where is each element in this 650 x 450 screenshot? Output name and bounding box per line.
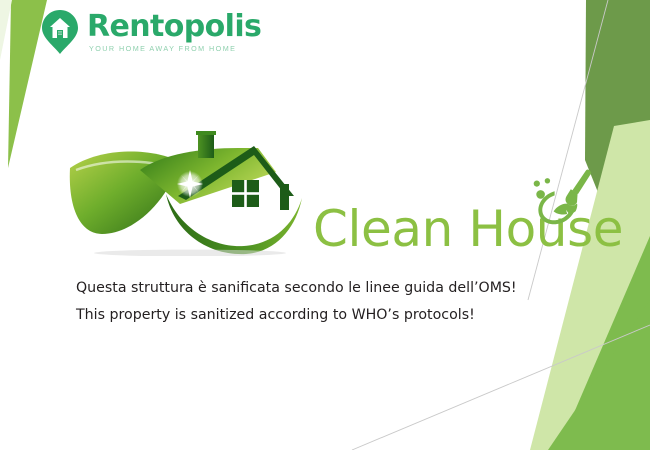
- right-dark-green-wedge: [585, 0, 650, 322]
- bottom-right-green-wedge: [548, 300, 650, 450]
- message-english: This property is sanitized according to …: [76, 308, 517, 322]
- message-italian: Questa struttura è sanificata secondo le…: [76, 281, 517, 295]
- location-pin-house-icon: [40, 9, 82, 55]
- brand-logo: Rentopolis YOUR HOME AWAY FROM HOME: [40, 9, 261, 55]
- hairline-diagonal-lower: [352, 325, 650, 450]
- left-soft-tint: [0, 0, 12, 60]
- house-chimney-cap: [196, 131, 216, 135]
- sanitization-message-block: Questa struttura è sanificata secondo le…: [76, 281, 517, 322]
- eco-leaf-house-illustration: [62, 122, 314, 256]
- clean-house-poster: Rentopolis YOUR HOME AWAY FROM HOME: [0, 0, 650, 450]
- right-mid-green-wedge: [558, 236, 650, 450]
- brand-tagline: YOUR HOME AWAY FROM HOME: [89, 44, 261, 53]
- house-wall-edge: [280, 184, 289, 210]
- house-window: [232, 180, 259, 207]
- brand-name: Rentopolis: [87, 12, 261, 43]
- broom-sweeping-icon: [526, 166, 604, 232]
- house-chimney: [198, 132, 214, 158]
- brand-text-wrap: Rentopolis YOUR HOME AWAY FROM HOME: [87, 11, 261, 54]
